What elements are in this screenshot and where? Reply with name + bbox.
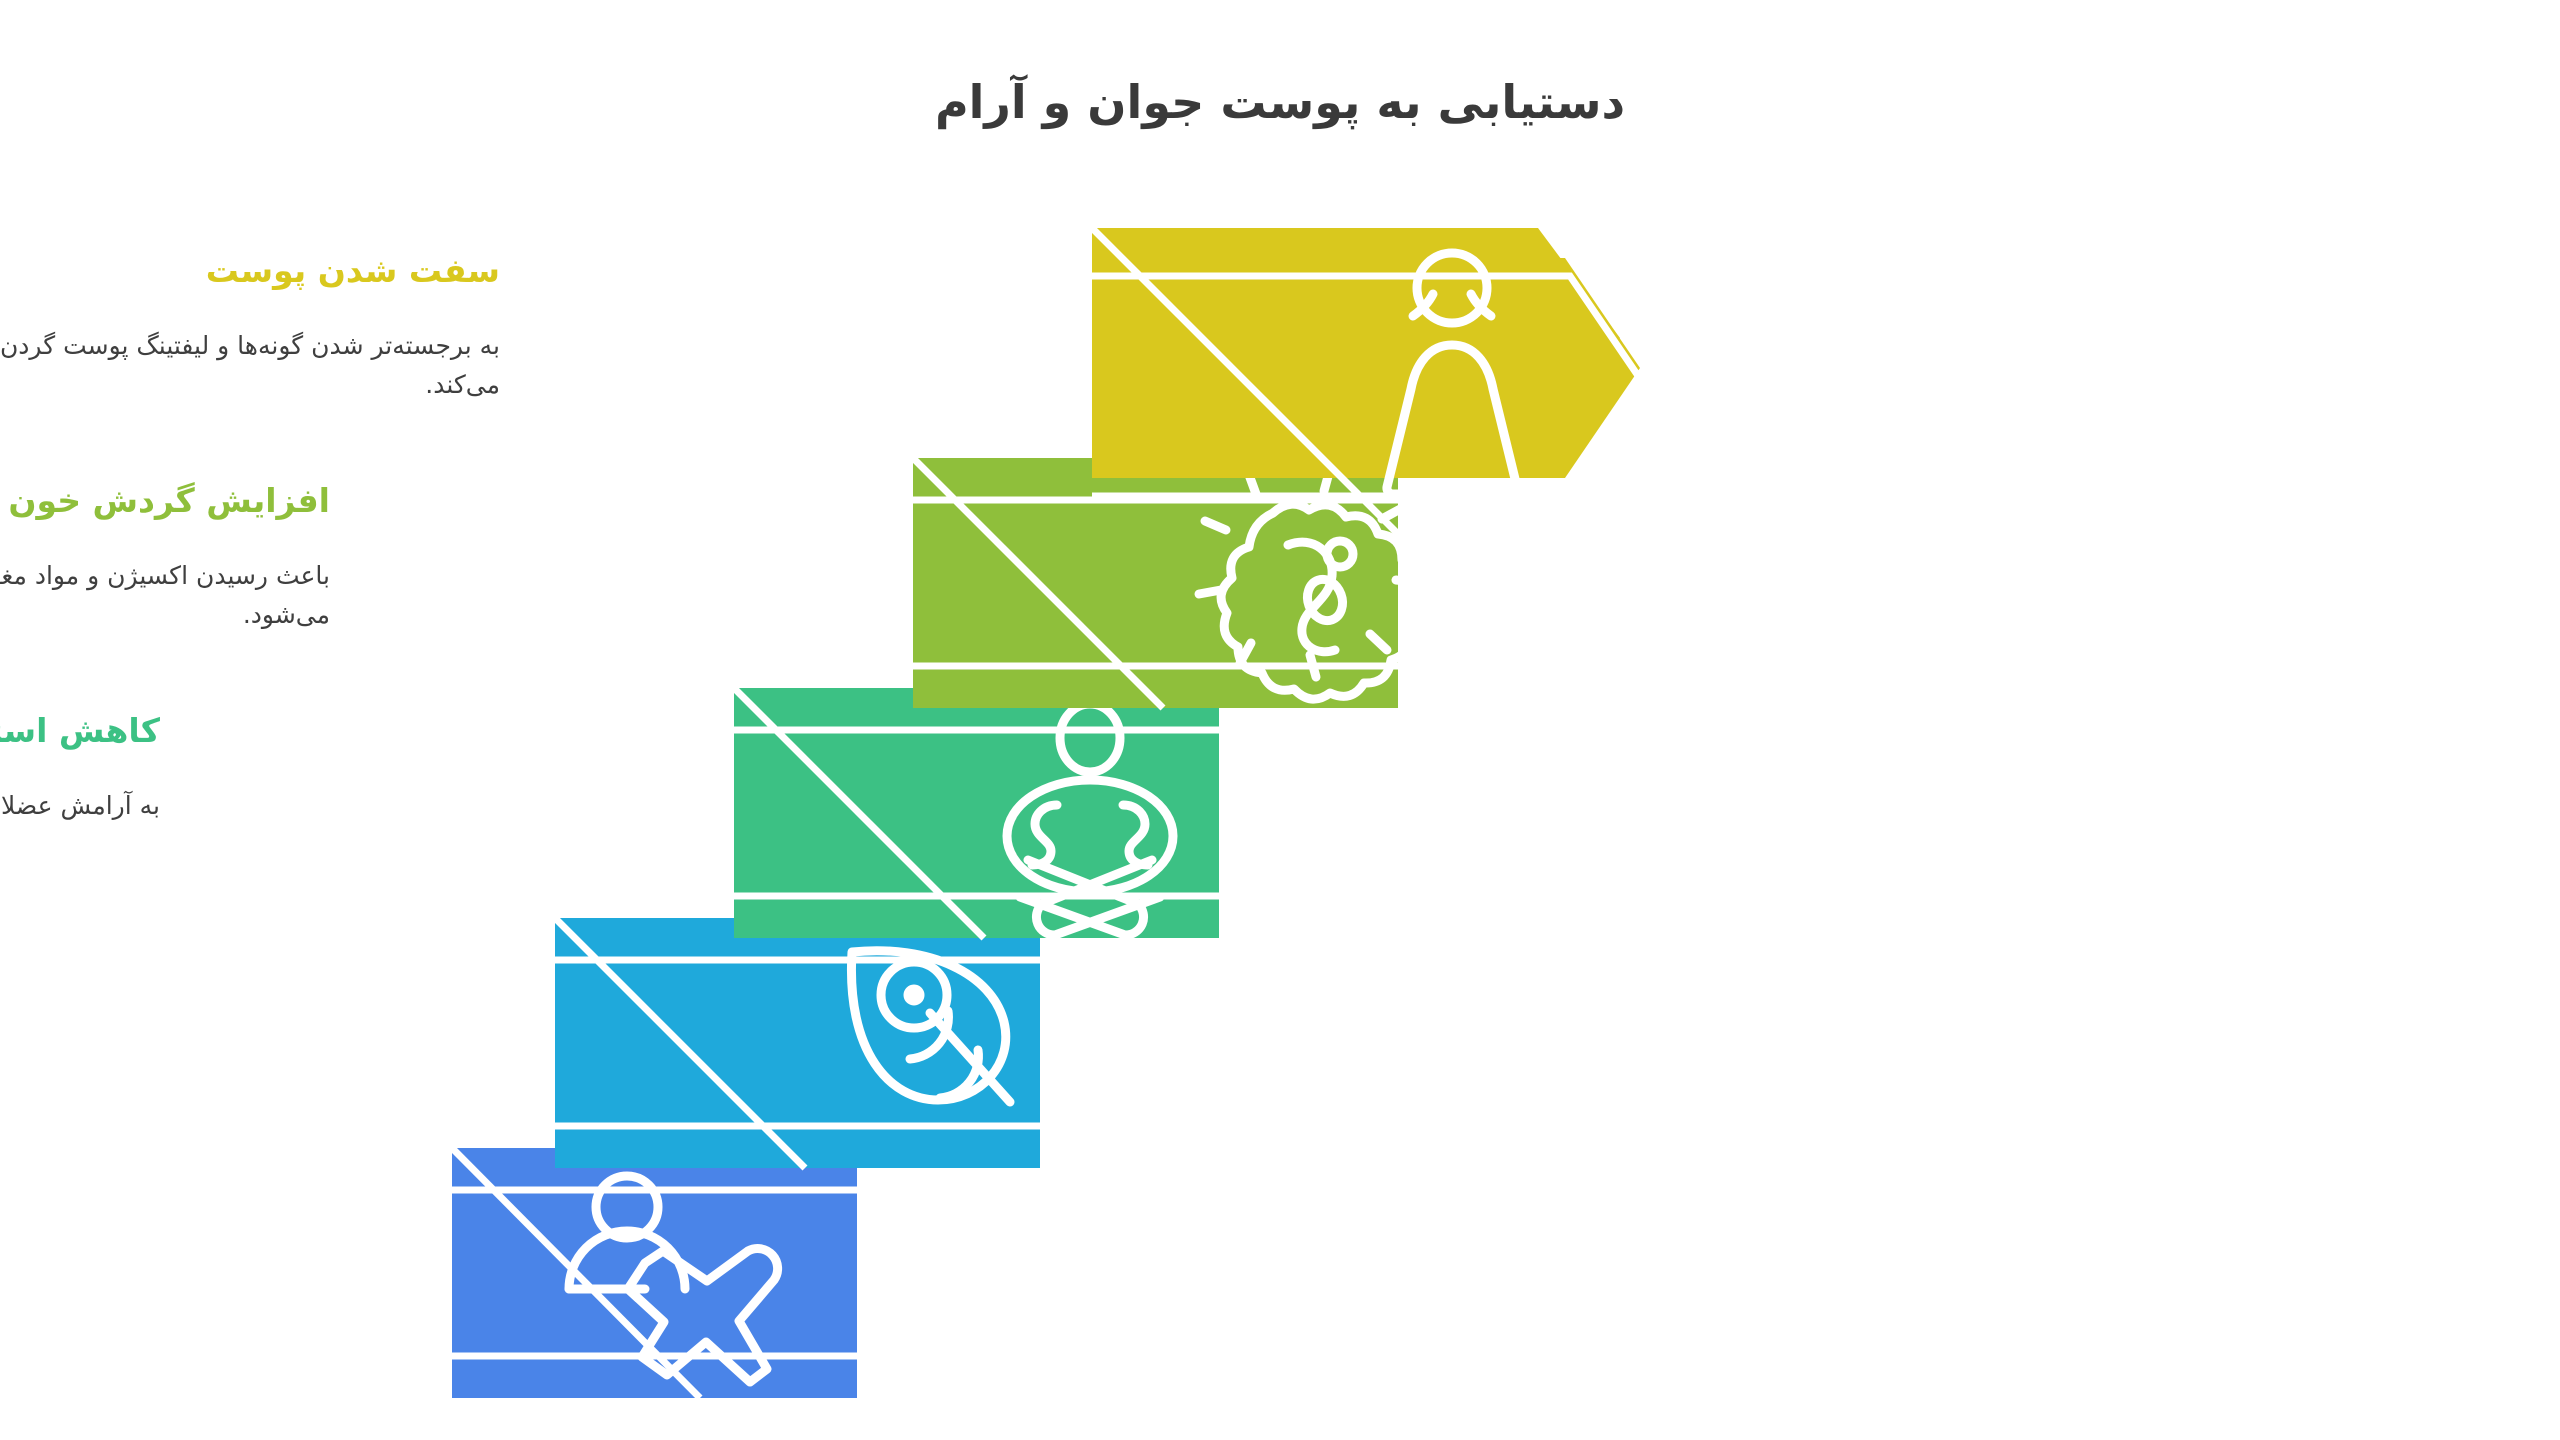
step-title: افزایش گردش خون [0, 480, 330, 521]
step-description: باعث رسیدن اکسیژن و مواد مغذی بیشتر به پ… [0, 557, 330, 635]
step-description: به آرامش عضلات و کاهش سردرد کمک می‌کند. [0, 787, 160, 826]
step-title: سفت شدن پوست [0, 250, 500, 291]
step-block-stress-reduction[interactable] [734, 688, 1219, 938]
step-block-lymphatic-drainage[interactable] [555, 918, 1040, 1168]
step-text-blood-circulation: افزایش گردش خون باعث رسیدن اکسیژن و مواد… [0, 480, 330, 635]
step-description: به برجسته‌تر شدن گونه‌ها و لیفتینگ پوست … [0, 327, 500, 405]
step-block-line-reduction[interactable] [452, 1148, 857, 1398]
step-text-stress-reduction: کاهش استرس به آرامش عضلات و کاهش سردرد ک… [0, 710, 160, 826]
step-title: کاهش استرس [0, 710, 160, 751]
stepped-chevron-diagram [0, 0, 2560, 1440]
step-text-skin-firming: سفت شدن پوست به برجسته‌تر شدن گونه‌ها و … [0, 250, 500, 405]
